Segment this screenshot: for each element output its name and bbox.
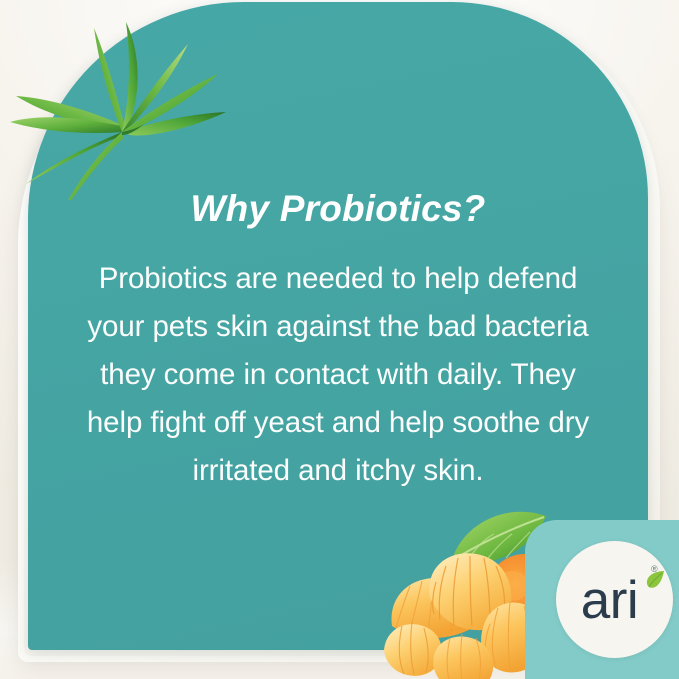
- product-infographic-card: Why Probiotics? Probiotics are needed to…: [0, 0, 679, 679]
- registered-trademark-icon: ®: [651, 564, 658, 574]
- palm-leaves-decoration: [0, 0, 230, 200]
- brand-logo: ari: [556, 541, 673, 658]
- brand-wordmark: ari: [581, 574, 638, 627]
